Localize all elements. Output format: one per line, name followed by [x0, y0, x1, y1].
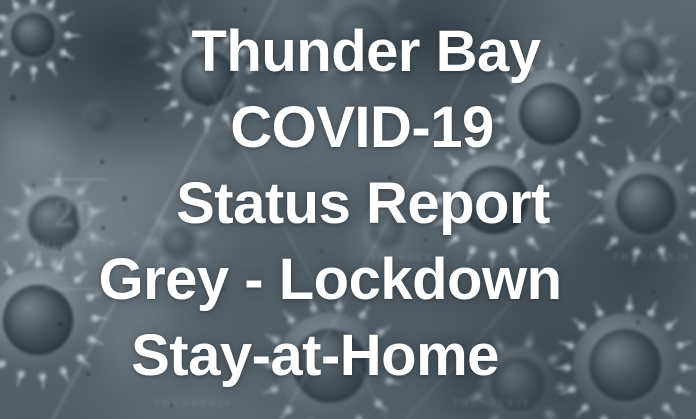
headline-line-covid-19: COVID-19	[34, 90, 674, 166]
headline-line-thunder-bay: Thunder Bay	[34, 14, 674, 90]
headline-line-stay-at-home: Stay-at-Home	[34, 318, 674, 394]
headline-line-status-report: Status Report	[34, 166, 674, 242]
watermark-repeat: THUNDER20	[452, 398, 530, 409]
headline-block: Thunder Bay COVID-19 Status Report Grey …	[0, 14, 674, 394]
watermark-repeat: THUNDER20	[154, 398, 232, 409]
headline-line-grey-lockdown: Grey - Lockdown	[34, 242, 674, 318]
covid-status-banner: 20 THUNDER20 THUNDER20 THUNDER20 THUNDER…	[0, 0, 696, 419]
